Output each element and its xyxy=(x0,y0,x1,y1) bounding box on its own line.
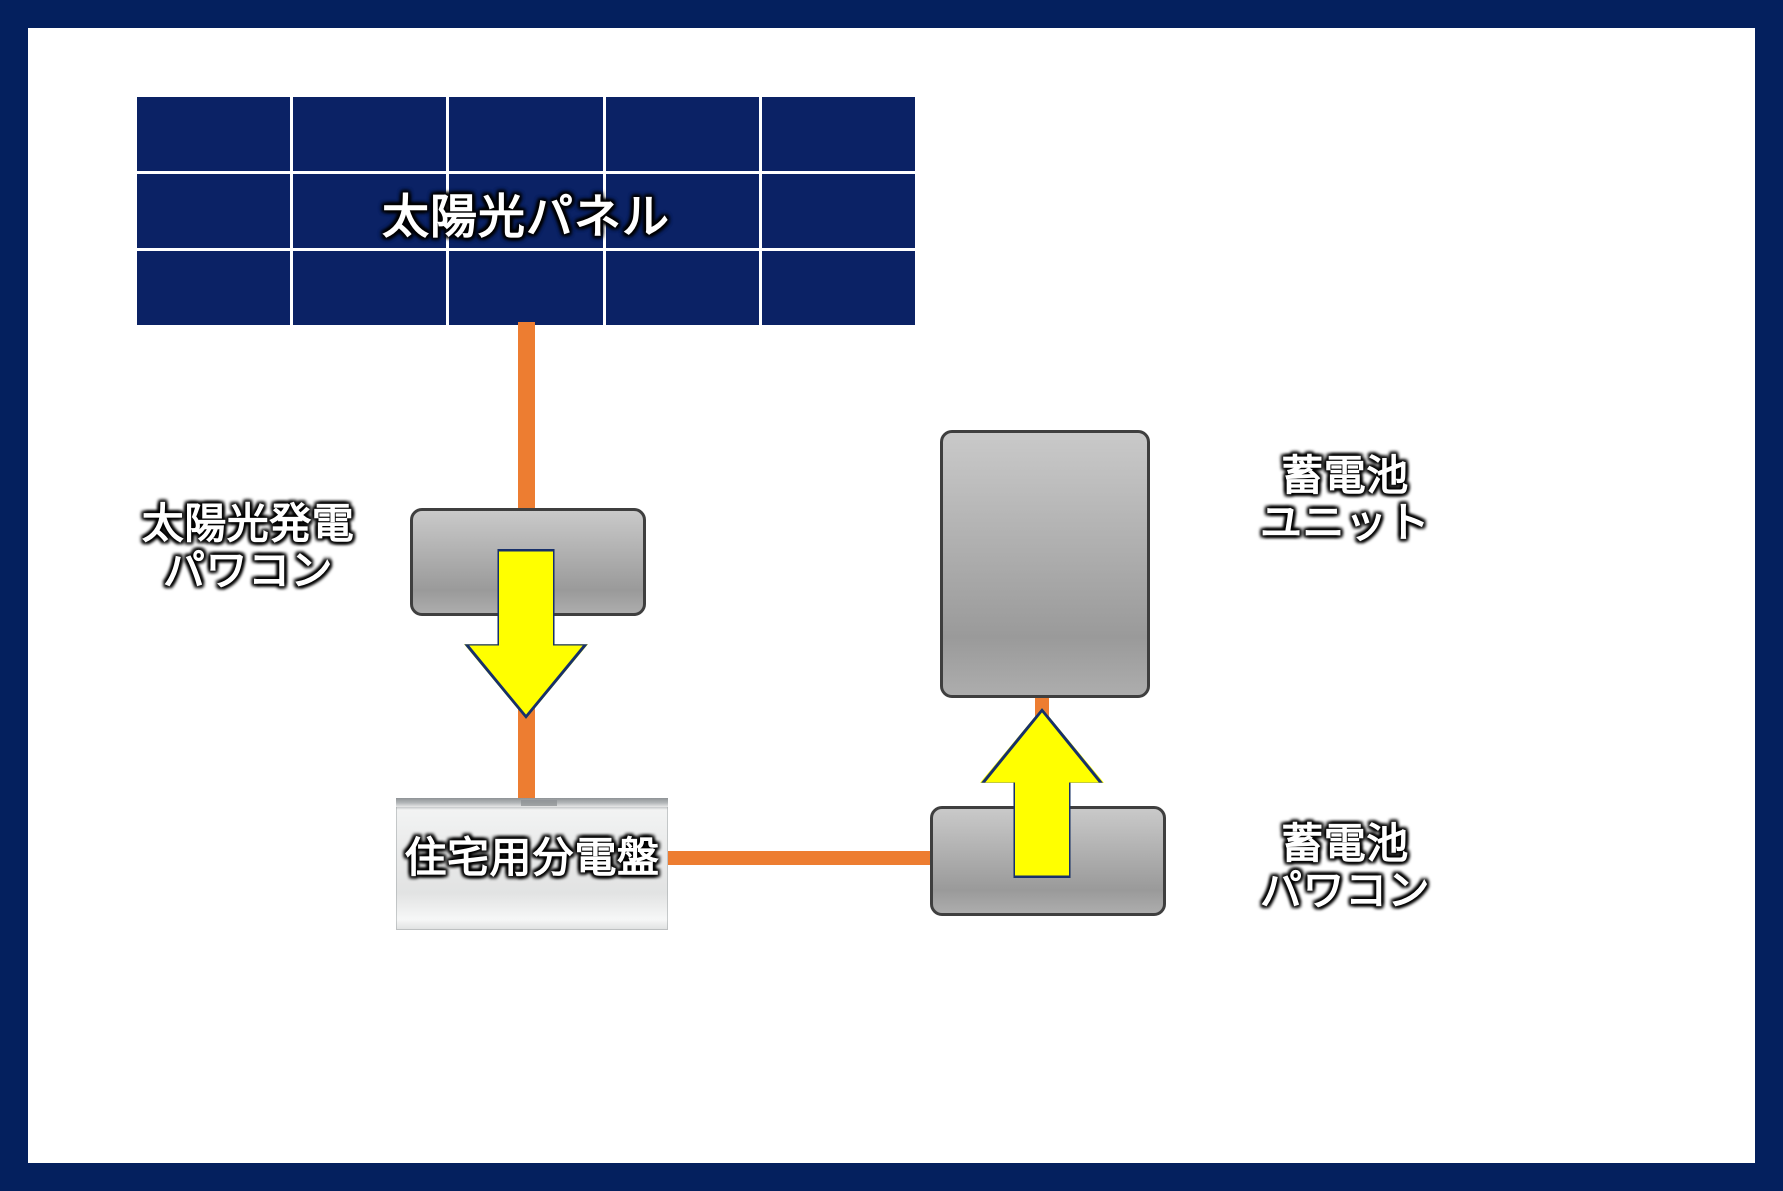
solar-cell xyxy=(762,97,915,171)
solar-cell xyxy=(137,174,290,248)
solar-cell xyxy=(293,174,446,248)
solar-cell xyxy=(762,251,915,325)
solar-cell xyxy=(293,97,446,171)
diagram-canvas: 太陽光パネル 太陽光発電 パワコン 住宅用分電盤 蓄電池 ユニット 蓄電池 パワ… xyxy=(0,0,1783,1191)
solar-cell xyxy=(606,251,759,325)
distribution-board-seam xyxy=(521,800,557,806)
battery-unit-box[interactable] xyxy=(940,430,1150,698)
solar-panel-grid xyxy=(137,97,915,325)
solar-cell xyxy=(137,97,290,171)
solar-cell xyxy=(762,174,915,248)
solar-cell xyxy=(449,251,602,325)
solar-cell xyxy=(449,174,602,248)
wire-panel-to-inverter xyxy=(518,322,535,512)
solar-cell xyxy=(606,97,759,171)
solar-cell xyxy=(606,174,759,248)
solar-cell xyxy=(449,97,602,171)
solar-cell xyxy=(137,251,290,325)
solar-cell xyxy=(293,251,446,325)
wire-board-to-battery-inverter xyxy=(664,851,942,865)
distribution-board[interactable] xyxy=(396,798,668,930)
